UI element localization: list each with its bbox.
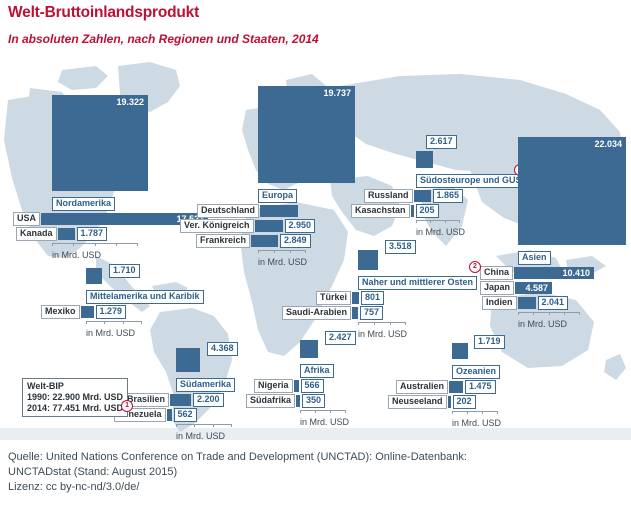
welt-bip-callout: Welt-BIP 1990: 22.900 Mrd. USD 2014: 77.… <box>22 378 128 417</box>
country-label-deutschland: Deutschland <box>197 204 259 218</box>
welt-bip-2014: 2014: 77.451 Mrd. USD <box>27 403 123 414</box>
scale-unit-asien: in Mrd. USD <box>518 319 626 329</box>
country-row-frankreich: Frankreich 2.849 <box>196 234 355 248</box>
region-value-suedamerika: 4.368 <box>207 342 238 356</box>
region-value-naher-osten: 3.518 <box>385 240 416 254</box>
country-value-ver-koenigreich: 2.950 <box>285 219 316 233</box>
country-value-kanada: 1.787 <box>77 227 108 241</box>
source-line-1: Quelle: United Nations Conference on Tra… <box>8 450 623 465</box>
scale-unit-suedamerika: in Mrd. USD <box>176 431 235 441</box>
region-label-suedosteuropa: Südosteurope und GUS <box>416 174 526 188</box>
scale-ruler-asien <box>518 312 580 318</box>
country-label-australien: Australien <box>396 380 448 394</box>
country-row-venezuela: Venezuela 562 <box>114 408 235 422</box>
scale-unit-nordamerika: in Mrd. USD <box>52 250 208 260</box>
country-row-neuseeland: Neuseeland 202 <box>388 395 501 409</box>
country-value-china: 10.410 <box>562 267 590 279</box>
country-label-frankreich: Frankreich <box>196 234 250 248</box>
region-square-suedamerika <box>176 348 200 372</box>
welt-bip-title: Welt-BIP <box>27 381 123 392</box>
country-bar-deutschland <box>260 205 298 217</box>
country-row-indien: Indien 2.041 <box>482 296 626 310</box>
region-value-mittelamerika: 1.710 <box>109 264 140 278</box>
country-label-indien: Indien <box>482 296 517 310</box>
country-bar-china: 10.410 <box>514 267 594 279</box>
scale-unit-europa: in Mrd. USD <box>258 257 355 267</box>
scale-ruler-naher-osten <box>358 322 406 328</box>
scale-unit-naher-osten: in Mrd. USD <box>358 329 477 339</box>
country-row-japan: Japan 4.587 <box>480 281 626 295</box>
country-label-suedafrika: Südafrika <box>246 394 295 408</box>
region-value-asien: 22.034 <box>594 139 622 149</box>
scale-ruler-mittelamerika <box>86 321 142 327</box>
country-bar-suedafrika <box>296 395 300 407</box>
country-row-deutschland: Deutschland <box>197 204 355 218</box>
country-value-mexiko: 1.279 <box>96 305 127 319</box>
region-group-mittelamerika: 1.710 Mittelamerika und Karibik Mexiko 1… <box>86 268 204 338</box>
country-row-mexiko: Mexiko 1.279 <box>41 305 204 319</box>
country-bar-indien <box>518 297 536 309</box>
country-bar-ver-koenigreich <box>255 220 283 232</box>
welt-bip-1990: 1990: 22.900 Mrd. USD <box>27 392 123 403</box>
scale-ruler-suedosteuropa <box>416 220 460 226</box>
country-bar-saudi-arabien <box>352 307 358 319</box>
country-row-tuerkei: Türkei 801 <box>316 291 477 305</box>
country-value-brasilien: 2.200 <box>193 393 224 407</box>
country-value-indien: 2.041 <box>538 296 569 310</box>
region-value-suedosteuropa: 2.617 <box>426 135 457 149</box>
country-row-australien: Australien 1.475 <box>396 380 501 394</box>
scale-ruler-afrika <box>300 410 346 416</box>
scale-ruler-suedamerika <box>176 424 232 430</box>
country-label-kanada: Kanada <box>16 227 57 241</box>
region-group-europa: 19.737 Europa Deutschland Ver. Königreic… <box>258 86 355 267</box>
country-bar-russland <box>414 190 431 202</box>
source-line-2: UNCTADstat (Stand: August 2015) <box>8 465 623 480</box>
country-bar-neuseeland <box>448 396 451 408</box>
country-label-japan: Japan <box>480 281 514 295</box>
region-square-europa: 19.737 <box>258 86 355 183</box>
country-value-japan: 4.587 <box>525 282 548 294</box>
region-group-naher-osten: 3.518 Naher und mittlerer Osten Türkei 8… <box>358 250 477 339</box>
country-value-neuseeland: 202 <box>453 395 476 409</box>
country-value-nigeria: 566 <box>301 379 324 393</box>
country-bar-frankreich <box>251 235 278 247</box>
region-square-afrika <box>300 340 318 358</box>
country-label-russland: Russland <box>364 189 413 203</box>
region-square-suedosteuropa <box>416 151 433 168</box>
country-label-neuseeland: Neuseeland <box>388 395 447 409</box>
country-row-kasachstan: Kasachstan 205 <box>351 204 526 218</box>
region-value-europa: 19.737 <box>323 88 351 98</box>
country-value-frankreich: 2.849 <box>280 234 311 248</box>
license-line: Lizenz: cc by-nc-nd/3.0/de/ <box>8 480 623 495</box>
region-label-europa: Europa <box>258 189 297 203</box>
region-square-naher-osten <box>358 250 378 270</box>
footnote-marker-1: 1 <box>121 400 133 412</box>
scale-ruler-ozeanien <box>452 411 498 417</box>
region-label-asien: Asien <box>518 251 551 265</box>
region-value-ozeanien: 1.719 <box>474 335 505 349</box>
region-group-asien: 22.034 Asien 2 China 10.410 Japan 4.587 … <box>518 137 626 329</box>
country-label-kasachstan: Kasachstan <box>351 204 410 218</box>
country-label-saudi-arabien: Saudi-Arabien <box>282 306 351 320</box>
country-bar-australien <box>449 381 463 393</box>
country-bar-mexiko <box>81 306 94 318</box>
country-bar-kasachstan <box>411 205 414 217</box>
country-value-kasachstan: 205 <box>416 204 439 218</box>
country-value-suedafrika: 350 <box>302 394 325 408</box>
region-group-afrika: 2.427 Afrika Nigeria 566 Südafrika 350 i… <box>300 340 349 427</box>
country-value-australien: 1.475 <box>465 380 496 394</box>
country-label-mexiko: Mexiko <box>41 305 80 319</box>
region-label-suedamerika: Südamerika <box>176 378 235 392</box>
scale-ruler-europa <box>258 250 306 256</box>
country-label-usa: USA <box>13 212 40 226</box>
country-row-saudi-arabien: Saudi-Arabien 757 <box>282 306 477 320</box>
region-value-nordamerika: 19.322 <box>116 97 144 107</box>
region-label-mittelamerika: Mittelamerika und Karibik <box>86 290 204 304</box>
infographic-canvas: Welt-Bruttoinlandsprodukt In absoluten Z… <box>0 0 631 511</box>
country-label-nigeria: Nigeria <box>254 379 293 393</box>
footnote-marker-2: 2 <box>469 261 481 273</box>
region-label-nordamerika: Nordamerika <box>52 197 115 211</box>
region-group-suedosteuropa: 2.617 Südosteurope und GUS 3 Russland 1.… <box>416 151 526 237</box>
page-subtitle: In absoluten Zahlen, nach Regionen und S… <box>8 32 319 46</box>
country-bar-venezuela <box>167 409 172 421</box>
source-footer: Quelle: United Nations Conference on Tra… <box>8 450 623 495</box>
country-row-nigeria: Nigeria 566 <box>254 379 349 393</box>
scale-unit-afrika: in Mrd. USD <box>300 417 349 427</box>
region-group-suedamerika: 4.368 Südamerika Brasilien 2.200 Venezue… <box>176 348 235 441</box>
country-bar-brasilien <box>170 394 191 406</box>
country-row-brasilien: Brasilien 2.200 <box>123 393 235 407</box>
country-value-tuerkei: 801 <box>361 291 384 305</box>
country-value-russland: 1.865 <box>433 189 464 203</box>
region-label-naher-osten: Naher und mittlerer Osten <box>358 276 477 290</box>
region-square-ozeanien <box>452 343 468 359</box>
region-group-ozeanien: 1.719 Ozeanien Australien 1.475 Neuseela… <box>452 343 501 428</box>
country-label-ver-koenigreich: Ver. Königreich <box>180 219 254 233</box>
region-label-ozeanien: Ozeanien <box>452 365 500 379</box>
country-bar-tuerkei <box>352 292 359 304</box>
country-bar-kanada <box>58 228 75 240</box>
country-value-saudi-arabien: 757 <box>360 306 383 320</box>
country-label-china: China <box>480 266 513 280</box>
region-label-afrika: Afrika <box>300 364 334 378</box>
country-row-suedafrika: Südafrika 350 <box>246 394 349 408</box>
region-square-asien: 22.034 <box>518 137 626 245</box>
region-value-afrika: 2.427 <box>325 331 356 345</box>
scale-unit-suedosteuropa: in Mrd. USD <box>416 227 526 237</box>
country-value-venezuela: 562 <box>174 408 197 422</box>
scale-ruler-nordamerika <box>52 243 138 249</box>
page-title: Welt-Bruttoinlandsprodukt <box>8 4 199 22</box>
region-square-nordamerika: 19.322 <box>52 95 148 191</box>
country-row-russland: Russland 1.865 <box>364 189 526 203</box>
scale-unit-ozeanien: in Mrd. USD <box>452 418 501 428</box>
region-square-mittelamerika <box>86 268 102 284</box>
region-group-nordamerika: 19.322 Nordamerika USA 17.527 Kanada 1.7… <box>52 95 208 260</box>
country-bar-nigeria <box>294 380 299 392</box>
country-row-china: 2 China 10.410 <box>480 266 626 280</box>
country-bar-japan: 4.587 <box>515 282 552 294</box>
country-row-ver-koenigreich: Ver. Königreich 2.950 <box>180 219 355 233</box>
country-label-tuerkei: Türkei <box>316 291 351 305</box>
scale-unit-mittelamerika: in Mrd. USD <box>86 328 204 338</box>
country-row-usa: USA 17.527 <box>13 212 208 226</box>
